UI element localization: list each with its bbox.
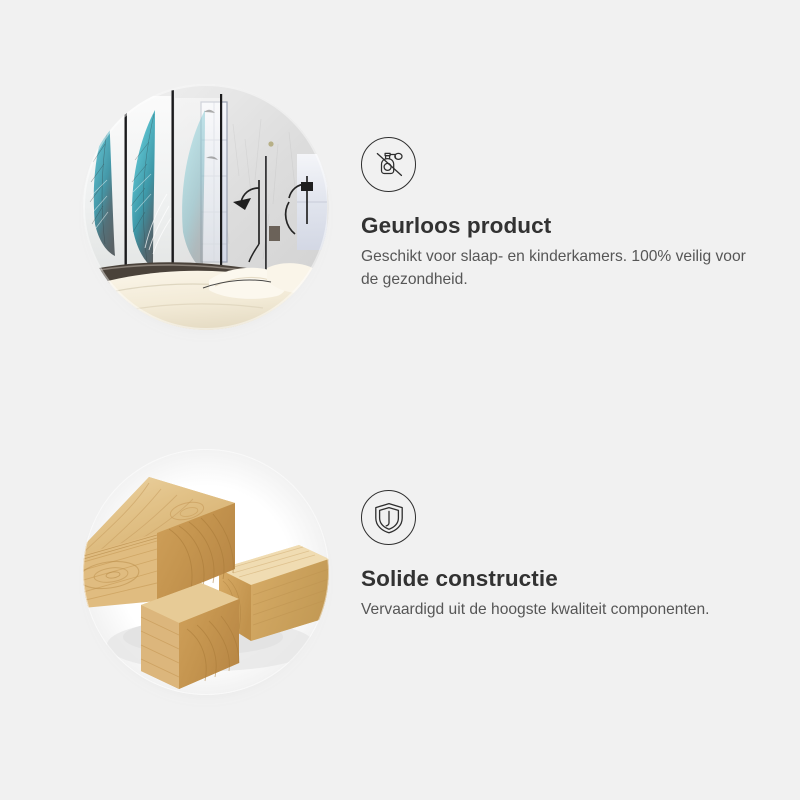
feature-title: Geurloos product (361, 212, 551, 239)
wooden-blocks-photo (83, 449, 329, 695)
feature-block-odourless-product: Geurloos product Geschikt voor slaap- en… (0, 60, 800, 420)
feature-description: Geschikt voor slaap- en kinderkamers. 10… (361, 245, 751, 291)
feature-image-wrapper (83, 84, 329, 330)
feature-image-wrapper (83, 449, 329, 695)
no-fragrance-icon (361, 137, 416, 192)
feature-block-solid-construction: Solide constructie Vervaardigd uit de ho… (0, 425, 800, 785)
bedroom-feather-wall-art-photo (83, 84, 329, 330)
feature-title: Solide constructie (361, 565, 558, 592)
shield-icon (361, 490, 416, 545)
feature-description: Vervaardigd uit de hoogste kwaliteit com… (361, 598, 709, 621)
